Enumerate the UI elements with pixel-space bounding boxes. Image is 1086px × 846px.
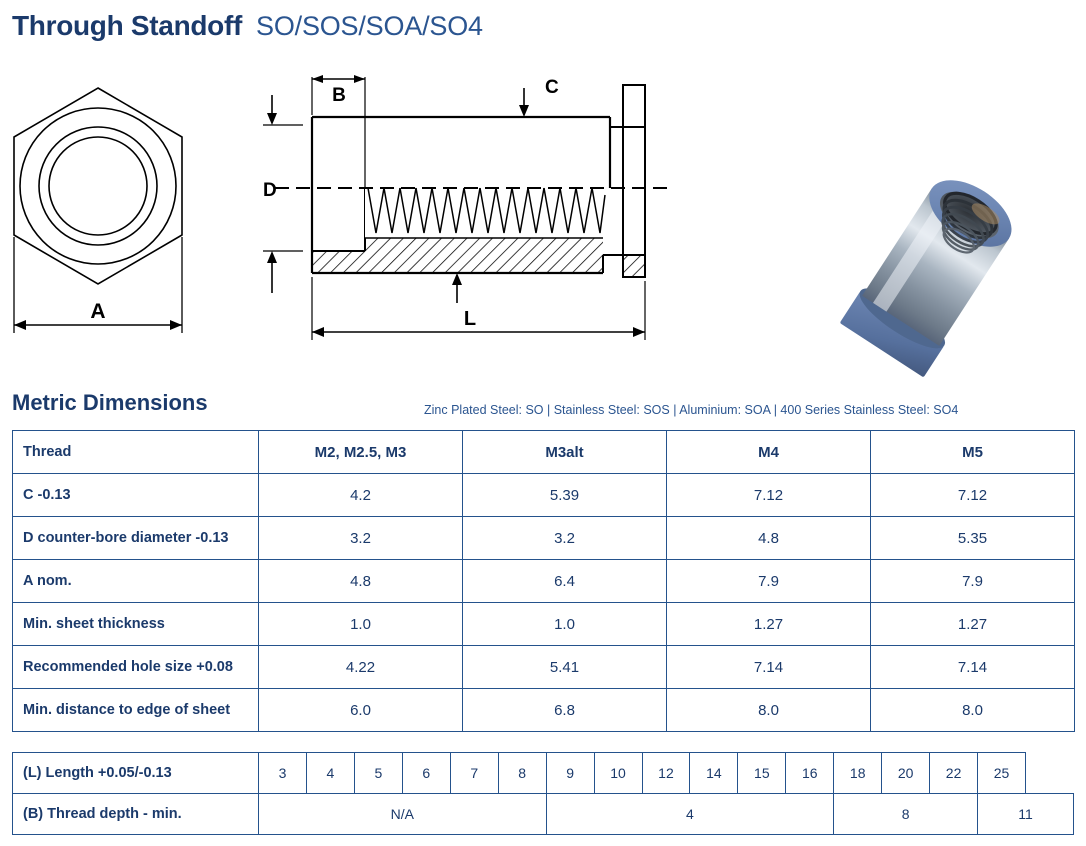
arrow-left-b (312, 75, 323, 83)
page-header: Through Standoff SO/SOS/SOA/SO4 (12, 10, 483, 42)
arrow-right-b (354, 75, 365, 83)
arrow-up-l (452, 273, 462, 285)
arrow-right-a (170, 320, 182, 330)
cell-value: 1.27 (667, 603, 871, 646)
material-codes-subtitle: Zinc Plated Steel: SO | Stainless Steel:… (424, 403, 958, 417)
cell-value: 5.39 (463, 474, 667, 517)
length-cell: 25 (978, 753, 1026, 794)
table-row: C -0.13 4.2 5.39 7.12 7.12 (13, 474, 1075, 517)
thread-depth-row: (B) Thread depth - min. N/A 4 8 11 (13, 794, 1074, 835)
length-row: (L) Length +0.05/-0.13 3 4 5 6 7 8 9 10 … (13, 753, 1074, 794)
technical-drawings: A (0, 55, 1086, 375)
cell-value: 3.2 (259, 517, 463, 560)
product-codes: SO/SOS/SOA/SO4 (256, 11, 483, 42)
length-cell: 8 (498, 753, 546, 794)
cell-value: 6.4 (463, 560, 667, 603)
cell-value: 4.2 (259, 474, 463, 517)
inner-circle (49, 137, 147, 235)
cell-value: 1.27 (871, 603, 1075, 646)
cell-value: 7.12 (667, 474, 871, 517)
dim-label-a: A (90, 300, 105, 323)
thread-depth-cell: 11 (978, 794, 1074, 835)
cell-value: 5.41 (463, 646, 667, 689)
outer-circle (20, 108, 176, 264)
dim-label-l: L (464, 308, 476, 330)
standoff-photo (790, 123, 1080, 413)
column-header-m2: M2, M2.5, M3 (259, 431, 463, 474)
cell-value: 3.2 (463, 517, 667, 560)
section-hatch-lower (312, 238, 603, 273)
cell-value: 5.35 (871, 517, 1075, 560)
thread-profile (365, 188, 605, 238)
cell-value: 8.0 (871, 689, 1075, 732)
table-row: Recommended hole size +0.08 4.22 5.41 7.… (13, 646, 1075, 689)
cell-value: 6.8 (463, 689, 667, 732)
table-row: D counter-bore diameter -0.13 3.2 3.2 4.… (13, 517, 1075, 560)
metric-dimensions-heading: Metric Dimensions (12, 390, 208, 416)
table-row: Min. distance to edge of sheet 6.0 6.8 8… (13, 689, 1075, 732)
thread-depth-cell: N/A (259, 794, 547, 835)
row-label: Recommended hole size +0.08 (13, 646, 259, 689)
row-label: C -0.13 (13, 474, 259, 517)
middle-circle (39, 127, 157, 245)
cell-value: 4.8 (667, 517, 871, 560)
cell-value: 7.14 (871, 646, 1075, 689)
column-header-m3alt: M3alt (463, 431, 667, 474)
cell-value: 7.9 (667, 560, 871, 603)
length-cell: 9 (546, 753, 594, 794)
flange-upper (623, 85, 645, 127)
flange-hatch-lower (623, 255, 645, 277)
length-cell: 5 (354, 753, 402, 794)
page-title: Through Standoff (12, 10, 242, 42)
length-cell: 4 (306, 753, 354, 794)
hex-top-view: A (0, 55, 250, 360)
cell-value: 7.9 (871, 560, 1075, 603)
length-cell: 6 (402, 753, 450, 794)
thread-depth-cell: 4 (546, 794, 834, 835)
length-cell: 22 (930, 753, 978, 794)
table-row: Min. sheet thickness 1.0 1.0 1.27 1.27 (13, 603, 1075, 646)
cell-value: 6.0 (259, 689, 463, 732)
length-cell: 12 (642, 753, 690, 794)
arrow-left-l (312, 327, 324, 337)
cell-value: 1.0 (463, 603, 667, 646)
table-header-row: Thread M2, M2.5, M3 M3alt M4 M5 (13, 431, 1075, 474)
row-label: Min. distance to edge of sheet (13, 689, 259, 732)
cell-value: 7.12 (871, 474, 1075, 517)
thread-depth-row-label: (B) Thread depth - min. (13, 794, 259, 835)
table-row: A nom. 4.8 6.4 7.9 7.9 (13, 560, 1075, 603)
thread-depth-cell: 8 (834, 794, 978, 835)
datasheet-page: Through Standoff SO/SOS/SOA/SO4 A (0, 0, 1086, 846)
length-cell: 7 (450, 753, 498, 794)
cell-value: 8.0 (667, 689, 871, 732)
arrow-down-d-top (267, 113, 277, 125)
dim-label-c: C (545, 77, 559, 98)
column-header-thread: Thread (13, 431, 259, 474)
arrow-left-a (14, 320, 26, 330)
cell-value: 4.22 (259, 646, 463, 689)
length-cell: 16 (786, 753, 834, 794)
dim-label-d: D (263, 180, 277, 201)
length-cell: 10 (594, 753, 642, 794)
length-cell: 15 (738, 753, 786, 794)
standoff-body (840, 164, 1027, 377)
length-cell: 3 (259, 753, 307, 794)
column-header-m5: M5 (871, 431, 1075, 474)
length-thread-depth-table: (L) Length +0.05/-0.13 3 4 5 6 7 8 9 10 … (12, 752, 1074, 835)
row-label: Min. sheet thickness (13, 603, 259, 646)
row-label: A nom. (13, 560, 259, 603)
cross-section-view: B C D (255, 55, 675, 360)
arrow-up-d-bottom (267, 251, 277, 263)
length-cell: 18 (834, 753, 882, 794)
row-label: D counter-bore diameter -0.13 (13, 517, 259, 560)
length-cell: 14 (690, 753, 738, 794)
cell-value: 7.14 (667, 646, 871, 689)
arrow-right-l (633, 327, 645, 337)
cell-value: 1.0 (259, 603, 463, 646)
cell-value: 4.8 (259, 560, 463, 603)
length-row-label: (L) Length +0.05/-0.13 (13, 753, 259, 794)
metric-dimensions-table: Thread M2, M2.5, M3 M3alt M4 M5 C -0.13 … (12, 430, 1075, 732)
dim-label-b: B (332, 85, 346, 106)
column-header-m4: M4 (667, 431, 871, 474)
length-cell: 20 (882, 753, 930, 794)
arrow-down-c (519, 105, 529, 117)
